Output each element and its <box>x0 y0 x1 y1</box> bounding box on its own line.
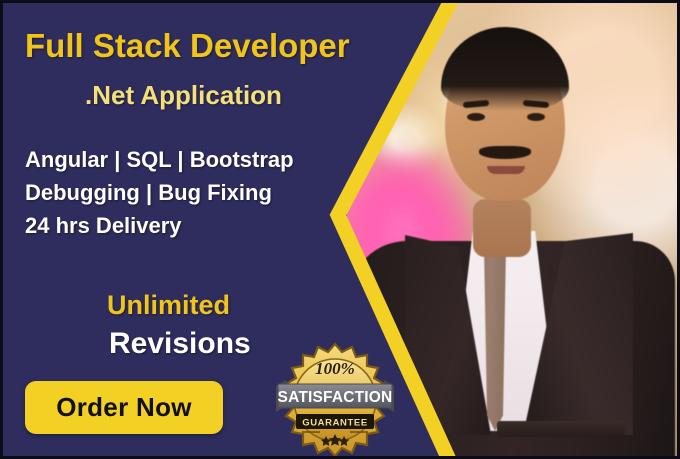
feature-item: Debugging | Bug Fixing <box>25 176 294 209</box>
offer-line-unlimited: Unlimited <box>107 290 230 321</box>
satisfaction-guarantee-badge: 100% SATISFACTION GUARANTEE <box>276 340 394 458</box>
subheadline: .Net Application <box>85 80 282 111</box>
badge-percent-text: 100% <box>315 359 355 378</box>
offer-line-revisions: Revisions <box>109 327 251 361</box>
order-now-button[interactable]: Order Now <box>25 381 223 434</box>
badge-guarantee-text: GUARANTEE <box>302 418 368 429</box>
banner-content: Full Stack Developer .Net Application An… <box>3 3 677 456</box>
feature-item: Angular | SQL | Bootstrap <box>25 143 294 176</box>
feature-item: 24 hrs Delivery <box>25 209 294 242</box>
badge-satisfaction-text: SATISFACTION <box>278 389 393 406</box>
feature-list: Angular | SQL | Bootstrap Debugging | Bu… <box>25 143 294 242</box>
headline: Full Stack Developer <box>25 27 350 65</box>
gig-banner: Full Stack Developer .Net Application An… <box>0 0 680 459</box>
